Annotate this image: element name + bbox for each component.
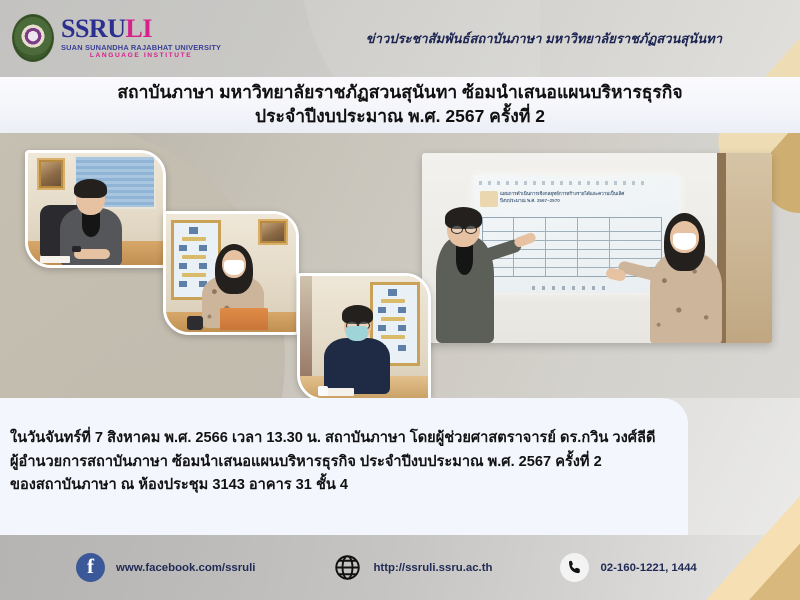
- room-door-panel: [726, 153, 772, 343]
- body-text-panel: ในวันจันทร์ที่ 7 สิงหาคม พ.ศ. 2566 เวลา …: [0, 398, 688, 535]
- staff-female-face-mask: [224, 260, 244, 275]
- university-seal-emblem: [12, 14, 54, 62]
- wall-picture-frame: [37, 158, 65, 190]
- staff-office-scene-2: [300, 276, 428, 398]
- header-bar: SSRULI SUAN SUNANDHA RAJABHAT UNIVERSITY…: [0, 0, 800, 77]
- body-text-line-3: ของสถาบันภาษา ณ ห้องประชุม 3143 อาคาร 31…: [10, 474, 688, 498]
- slide-title-line-2: ปีงบประมาณ พ.ศ. 2567–2570: [500, 198, 650, 205]
- desk-microphone: [187, 316, 203, 330]
- presenter-female-face-mask: [673, 233, 696, 250]
- brand-text-group: SSRULI SUAN SUNANDHA RAJABHAT UNIVERSITY…: [61, 16, 221, 60]
- brand-acronym: SSRULI: [61, 16, 221, 42]
- presenter-male-glasses-right: [465, 225, 477, 234]
- brand-lockup: SSRULI SUAN SUNANDHA RAJABHAT UNIVERSITY…: [12, 14, 221, 62]
- slide-title-line-1: แผนการดำเนินการเชิงกลยุทธ์การสร้างรายได้…: [500, 191, 650, 198]
- header-tagline: ข่าวประชาสัมพันธ์สถาบันภาษา มหาวิทยาลัยร…: [366, 28, 722, 49]
- photo-staff-blue-shirt: [297, 273, 431, 401]
- facebook-url[interactable]: www.facebook.com/ssruli: [116, 562, 255, 574]
- desk-papers: [326, 388, 354, 396]
- phone-number[interactable]: 02-160-1221, 1444: [600, 562, 696, 574]
- body-text-line-2: ผู้อำนวยการสถาบันภาษา ซ้อมนำเสนอแผนบริหา…: [10, 451, 688, 475]
- director-inner-shirt: [82, 213, 100, 237]
- staff-male-hair: [342, 305, 373, 324]
- staff-male-face-mask: [346, 326, 368, 341]
- body-text-line-1: ในวันจันทร์ที่ 7 สิงหาคม พ.ศ. 2566 เวลา …: [10, 427, 688, 451]
- slide-title: แผนการดำเนินการเชิงกลยุทธ์การสร้างรายได้…: [500, 191, 650, 205]
- contact-facebook[interactable]: f www.facebook.com/ssruli: [76, 553, 255, 582]
- presenter-male-inner-shirt: [456, 245, 473, 275]
- photo-staff-with-laptop: [163, 211, 299, 335]
- title-panel: สถาบันภาษา มหาวิทยาลัยราชภัฏสวนสุนันทา ซ…: [0, 77, 800, 133]
- photo-director-at-desk: [25, 150, 166, 268]
- contact-phone[interactable]: 02-160-1221, 1444: [560, 553, 696, 582]
- phone-icon[interactable]: [560, 553, 589, 582]
- presenter-male-hair: [445, 207, 482, 229]
- desk-documents: [40, 256, 70, 263]
- poster-root: SSRULI SUAN SUNANDHA RAJABHAT UNIVERSITY…: [0, 0, 800, 600]
- director-wristwatch: [72, 246, 81, 252]
- laptop: [220, 308, 268, 330]
- photo-collage: แผนการดำเนินการเชิงกลยุทธ์การสร้างรายได้…: [0, 133, 800, 398]
- desk-cup: [318, 386, 328, 396]
- slide-taskbar: [532, 286, 612, 290]
- website-url[interactable]: http://ssruli.ssru.ac.th: [373, 562, 492, 574]
- title-line-2: ประจำปีงบประมาณ พ.ศ. 2567 ครั้งที่ 2: [255, 106, 545, 128]
- slide-app-toolbar: [479, 181, 647, 185]
- director-office-scene: [28, 153, 163, 265]
- presentation-scene: แผนการดำเนินการเชิงกลยุทธ์การสร้างรายได้…: [422, 153, 772, 343]
- brand-acronym-li: LI: [125, 14, 151, 43]
- title-line-1: สถาบันภาษา มหาวิทยาลัยราชภัฏสวนสุนันทา ซ…: [117, 82, 682, 104]
- staff-male-body: [324, 338, 390, 394]
- slide-logo-block: [480, 191, 498, 207]
- wall-royal-portrait: [258, 219, 288, 245]
- footer-bar: f www.facebook.com/ssruli http://ssruli.…: [0, 535, 800, 600]
- facebook-icon[interactable]: f: [76, 553, 105, 582]
- brand-subtitle-university: SUAN SUNANDHA RAJABHAT UNIVERSITY: [61, 44, 221, 51]
- globe-icon[interactable]: [333, 553, 362, 582]
- presenter-male-glasses-left: [451, 225, 463, 234]
- photo-presentation-screen: แผนการดำเนินการเชิงกลยุทธ์การสร้างรายได้…: [422, 153, 772, 343]
- staff-office-scene-1: [166, 214, 296, 332]
- brand-subtitle-institute: LANGUAGE INSTITUTE: [61, 53, 221, 60]
- contact-website[interactable]: http://ssruli.ssru.ac.th: [333, 553, 492, 582]
- director-hair: [74, 179, 107, 198]
- brand-acronym-ssru: SSRU: [61, 14, 125, 43]
